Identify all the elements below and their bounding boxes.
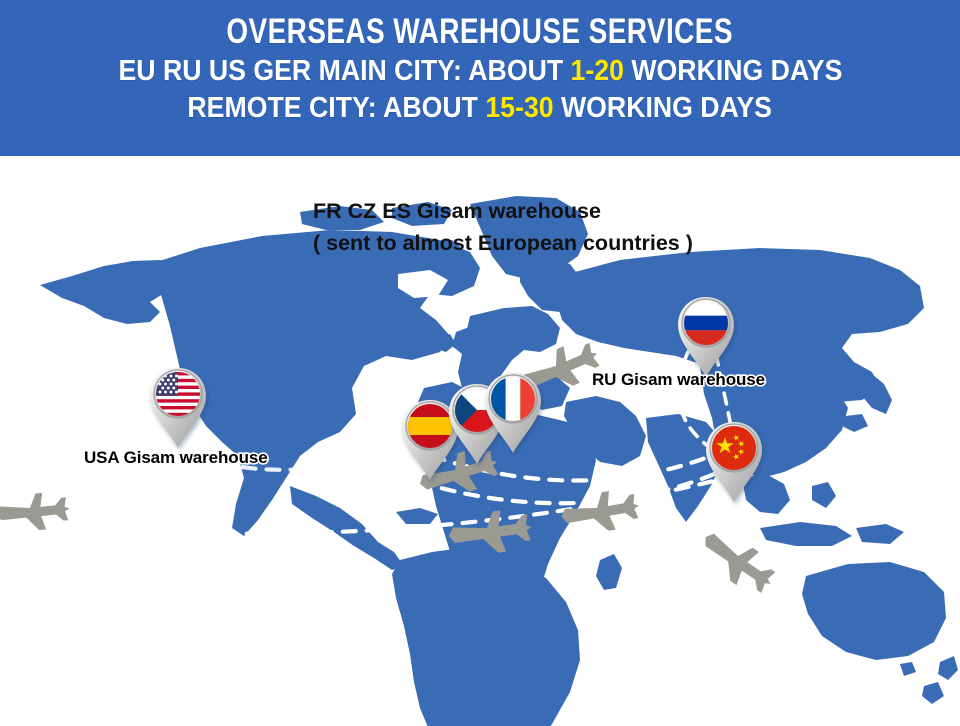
land-india [646,414,722,522]
map-pin-usa[interactable] [150,368,206,448]
header-banner: OVERSEAS WAREHOUSE SERVICES EU RU US GER… [0,0,960,156]
land-philippines [812,482,836,508]
eu-note-line-1: FR CZ ES Gisam warehouse [313,196,833,228]
land-australia [802,562,946,660]
land-new-zealand-2 [922,682,944,704]
poster-root: OVERSEAS WAREHOUSE SERVICES EU RU US GER… [0,0,960,726]
spain-flag-icon [408,404,452,448]
land-tasmania [900,662,916,676]
land-madagascar [596,554,622,590]
land-japan [856,374,892,414]
land-caribbean-1 [396,508,438,524]
us-flag-icon [156,372,200,416]
label-usa-warehouse: USA Gisam warehouse [84,448,268,468]
banner-line3-pre: REMOTE CITY: ABOUT [188,92,486,124]
land-central-america [290,486,404,570]
label-ru-warehouse: RU Gisam warehouse [592,370,765,390]
banner-line2-highlight: 1-20 [570,55,623,87]
banner-line-remote-city: REMOTE CITY: ABOUT 15-30 WORKING DAYS [188,91,773,125]
china-flag-icon [712,426,756,470]
land-new-zealand-1 [938,656,958,680]
banner-line2-post: WORKING DAYS [624,55,842,87]
airplane-icon-6 [0,490,71,534]
banner-line3-highlight: 15-30 [486,92,554,124]
page-title: OVERSEAS WAREHOUSE SERVICES [227,14,734,51]
land-southeast-asia [742,474,790,514]
land-indonesia-2 [856,524,904,544]
banner-line-main-city: EU RU US GER MAIN CITY: ABOUT 1-20 WORKI… [118,54,842,88]
eu-note-line-2: ( sent to almost European countries ) [313,228,833,260]
banner-line3-post: WORKING DAYS [554,92,772,124]
france-flag-icon [491,377,535,421]
banner-line2-pre: EU RU US GER MAIN CITY: ABOUT [118,55,570,87]
eu-warehouse-note: FR CZ ES Gisam warehouse ( sent to almos… [313,196,833,260]
russia-flag-icon [684,301,728,345]
land-japan-south [842,414,868,432]
land-indonesia-1 [760,522,852,546]
